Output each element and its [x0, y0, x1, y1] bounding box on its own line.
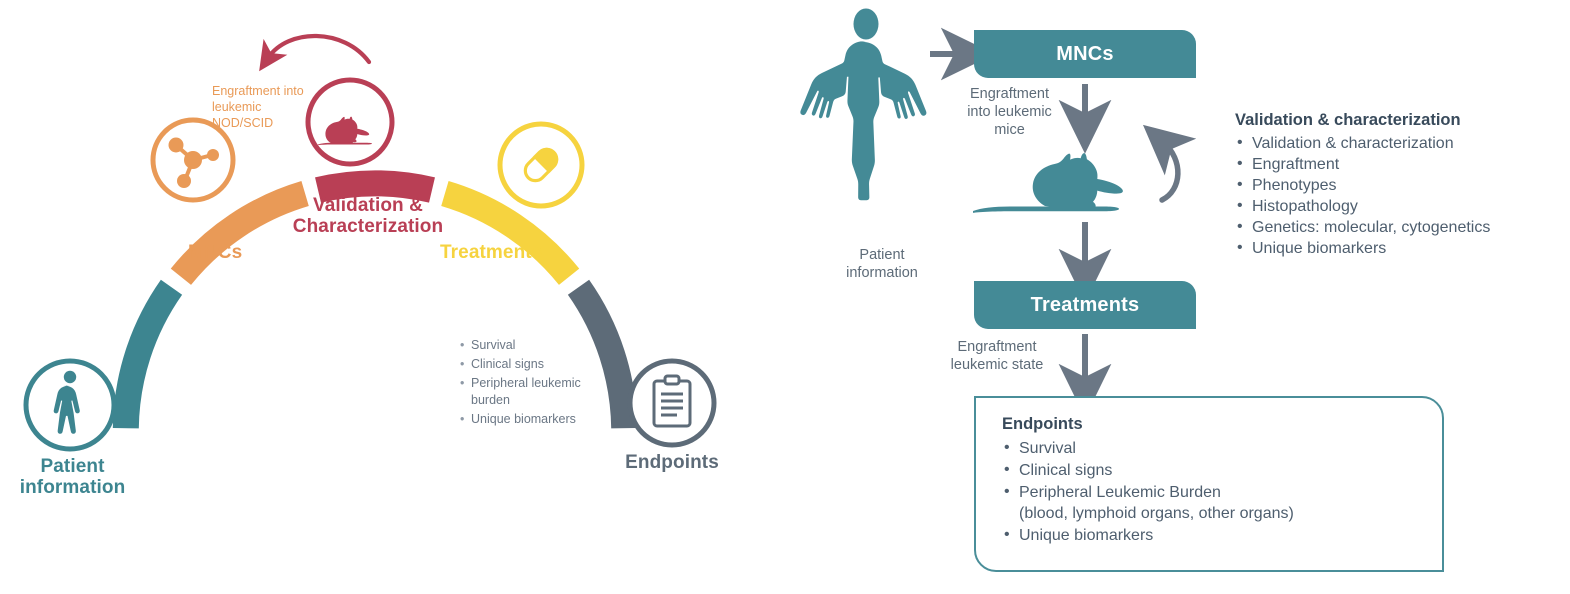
- list-item: Survival: [471, 337, 618, 355]
- endpoints-bullet3-main: Peripheral Leukemic Burden: [1019, 484, 1221, 501]
- note-line2: into leukemic: [967, 104, 1052, 120]
- note-line2: leukemic state: [951, 357, 1044, 373]
- list-item: Peripheral Leukemic Burden (blood, lymph…: [1002, 482, 1422, 524]
- list-item: Genetics: molecular, cytogenetics: [1235, 217, 1570, 238]
- diagram-canvas: Engraftment into leukemic NOD/SCID MNCs …: [0, 0, 1570, 594]
- list-item: Validation & characterization: [1235, 133, 1570, 154]
- human-body-icon: [800, 9, 926, 201]
- arc-label-validation-line1: Validation &: [313, 195, 423, 216]
- list-item: Engraftment: [1235, 154, 1570, 175]
- right-flowchart-panel: Patient information MNCs Engraftment int…: [780, 0, 1570, 594]
- list-item: Unique biomarkers: [1235, 238, 1570, 259]
- flow-note-engraftment-state: Engraftment leukemic state: [922, 338, 1072, 374]
- note-line1: Engraftment: [970, 86, 1049, 102]
- flow-patient-line1: Patient: [859, 247, 904, 263]
- mncs-node: [153, 120, 233, 200]
- arc-label-treatments: Treatments: [440, 242, 542, 263]
- note-line1: Engraftment: [958, 339, 1037, 355]
- endpoints-list: Survival Clinical signs Peripheral Leuke…: [1002, 438, 1422, 547]
- list-item: Survival: [1002, 438, 1422, 459]
- arc-label-patient-information: Patient information: [10, 456, 135, 499]
- list-item: Phenotypes: [1235, 175, 1570, 196]
- arc-label-mncs: MNCs: [188, 242, 242, 263]
- validation-characterization-node: [308, 80, 392, 164]
- arc-label-patient-line1: Patient: [40, 456, 104, 477]
- list-item: Unique biomarkers: [1002, 525, 1422, 546]
- validation-characterization-list: Validation & characterization Engraftmen…: [1235, 133, 1570, 259]
- flow-box-mncs[interactable]: MNCs: [974, 30, 1196, 78]
- endpoints-node: [630, 361, 714, 445]
- validation-characterization-heading: Validation & characterization: [1235, 111, 1461, 130]
- arc-segment-validation: [318, 183, 432, 190]
- arc-segment-patient: [126, 287, 172, 428]
- flow-patient-line2: information: [846, 265, 918, 281]
- note-line3: mice: [994, 122, 1025, 138]
- arc-engraftment-note: Engraftment into leukemic NOD/SCID: [212, 83, 312, 131]
- left-arc-panel: Engraftment into leukemic NOD/SCID MNCs …: [0, 0, 780, 594]
- arc-label-validation-line2: Characterization: [293, 216, 443, 237]
- arc-endpoint-bullets: Survival Clinical signs Peripheral leuke…: [458, 337, 618, 430]
- treatments-node: [500, 124, 582, 206]
- flow-label-patient-information: Patient information: [812, 246, 952, 282]
- arc-graphics: [0, 0, 780, 594]
- endpoints-bullet3-sub: (blood, lymphoid organs, other organs): [1019, 503, 1422, 524]
- list-item: Unique biomarkers: [471, 411, 618, 429]
- mouse-icon: [973, 153, 1123, 213]
- arc-label-endpoints: Endpoints: [592, 452, 752, 473]
- list-item: Clinical signs: [1002, 460, 1422, 481]
- flow-note-engraftment-mice: Engraftment into leukemic mice: [943, 85, 1076, 139]
- flow-box-treatments[interactable]: Treatments: [974, 281, 1196, 329]
- endpoints-heading: Endpoints: [1002, 415, 1083, 434]
- arc-label-validation-characterization: Validation & Characterization: [278, 195, 458, 238]
- arrow-validation-feedback: [1162, 142, 1178, 200]
- arc-label-patient-line2: information: [20, 477, 126, 498]
- list-item: Histopathology: [1235, 196, 1570, 217]
- list-item: Clinical signs: [471, 356, 618, 374]
- engraftment-arrow-icon: [268, 36, 369, 62]
- list-item: Peripheral leukemic burden: [471, 375, 618, 411]
- patient-information-node: [26, 361, 114, 449]
